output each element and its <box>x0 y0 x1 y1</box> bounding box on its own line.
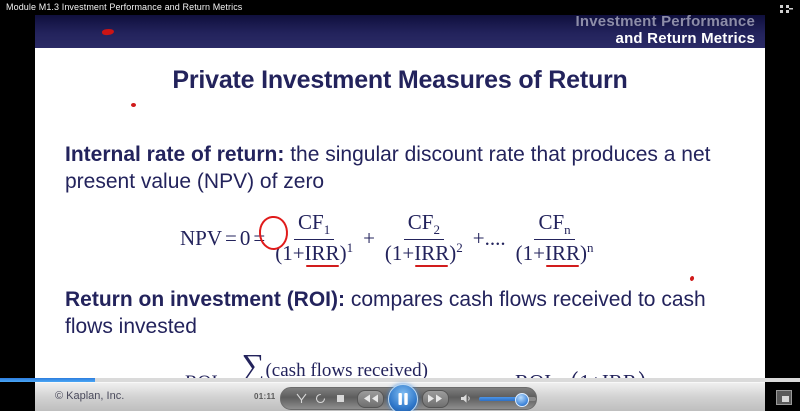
loop-icon[interactable] <box>314 391 327 406</box>
volume-slider[interactable] <box>479 397 536 401</box>
speaker-icon[interactable] <box>460 391 473 406</box>
npv-t3-cf-sub: n <box>564 222 571 237</box>
npv-term-3-numerator: CFn <box>534 211 574 240</box>
roi-sigma-numerator: ∑ <box>241 353 264 377</box>
fast-forward-icon[interactable] <box>422 390 449 408</box>
formula-roi: ROI = ∑(cash flows received) ∑(cash flow… <box>185 353 435 378</box>
title-annotation-tick <box>131 103 136 107</box>
roi-irr-irr: IRR <box>602 370 637 378</box>
roi-numerator-text: (cash flows received) <box>265 360 427 378</box>
stop-icon[interactable] <box>335 391 348 406</box>
window-title-bar: Module M1.3 Investment Performance and R… <box>0 0 800 15</box>
roi-irr-close-paren: ) <box>638 370 646 378</box>
roi-numerator: ∑(cash flows received) <box>237 353 432 378</box>
npv-t3-cf: CF <box>538 210 564 234</box>
npv-t2-cf: CF <box>408 210 434 234</box>
npv-zero: 0 <box>240 226 251 251</box>
header-annotation-mark <box>102 28 115 36</box>
npv-term-1-numerator: CF1 <box>294 211 334 240</box>
npv-plus-2: +.... <box>470 226 509 251</box>
npv-term-3: CFn (1+IRR)n <box>512 211 598 265</box>
npv-t2-den-irr: IRR <box>414 242 449 266</box>
copyright-label: © Kaplan, Inc. <box>55 390 124 402</box>
npv-t1-cf-sub: 1 <box>324 222 331 237</box>
slide-header-band: Investment Performance and Return Metric… <box>35 15 765 48</box>
npv-term-3-denominator: (1+IRR)n <box>512 240 598 266</box>
window-grid-icon[interactable] <box>778 4 794 18</box>
npv-t1-cf: CF <box>298 210 324 234</box>
elapsed-time-label: 01:11 <box>254 392 276 401</box>
header-line-1: Investment Performance <box>576 15 755 30</box>
npv-t3-den-close: ) <box>580 241 587 265</box>
npv-t2-den-exp: 2 <box>456 240 463 255</box>
pause-icon[interactable] <box>388 384 418 411</box>
slide-canvas: Investment Performance and Return Metric… <box>35 15 765 378</box>
slide-header-text: Investment Performance and Return Metric… <box>576 15 755 47</box>
npv-t1-den-close: ) <box>340 241 347 265</box>
slide-title: Private Investment Measures of Return <box>35 66 765 95</box>
paragraph-irr: Internal rate of return: the singular di… <box>65 141 755 195</box>
npv-term-2-numerator: CF2 <box>404 211 444 240</box>
formula-npv: NPV = 0 = CF1 (1+IRR)1 + CF2 (1+IRR)2 +.… <box>180 211 601 265</box>
npv-plus-1: + <box>360 226 378 251</box>
video-player-window: Module M1.3 Investment Performance and R… <box>0 0 800 411</box>
player-control-bar: © Kaplan, Inc. 01:11 <box>35 382 765 411</box>
paragraph-roi: Return on investment (ROI): compares cas… <box>65 286 755 340</box>
paragraph-roi-lead: Return on investment (ROI): <box>65 288 345 311</box>
formula-roi-irr: ROI = ( 1+ IRR ) n <box>515 370 654 378</box>
npv-t1-den-irr: IRR <box>305 242 340 266</box>
npv-term-2: CF2 (1+IRR)2 <box>381 211 467 265</box>
paragraph-irr-lead: Internal rate of return: <box>65 143 284 166</box>
volume-slider-knob[interactable] <box>515 393 529 407</box>
npv-equals-1: = <box>222 226 240 251</box>
npv-term-2-denominator: (1+IRR)2 <box>381 240 467 266</box>
npv-t2-cf-sub: 2 <box>433 222 440 237</box>
rewind-icon[interactable] <box>357 390 384 408</box>
npv-t3-den-exp: n <box>587 240 594 255</box>
roi-irr-equals: = <box>551 370 569 378</box>
fullscreen-icon[interactable] <box>776 390 792 405</box>
roi-irr-base: 1+ <box>580 370 602 378</box>
npv-t2-den-base: (1+ <box>385 241 414 265</box>
roi-fraction: ∑(cash flows received) ∑(cash flows inve… <box>237 353 432 378</box>
transport-controls <box>280 387 537 410</box>
npv-t3-den-base: (1+ <box>516 241 545 265</box>
npv-t1-den-exp: 1 <box>347 240 354 255</box>
window-title: Module M1.3 Investment Performance and R… <box>6 2 242 12</box>
npv-t3-den-irr: IRR <box>545 242 580 266</box>
header-line-2: and Return Metrics <box>576 30 755 47</box>
roi-irr-lhs: ROI <box>515 370 551 378</box>
roi-irr-open-paren: ( <box>570 370 578 378</box>
body-annotation-tick <box>689 275 694 281</box>
npv-lhs: NPV <box>180 226 222 251</box>
slide-body: Private Investment Measures of Return In… <box>35 48 765 378</box>
bookmark-icon[interactable] <box>295 391 308 406</box>
